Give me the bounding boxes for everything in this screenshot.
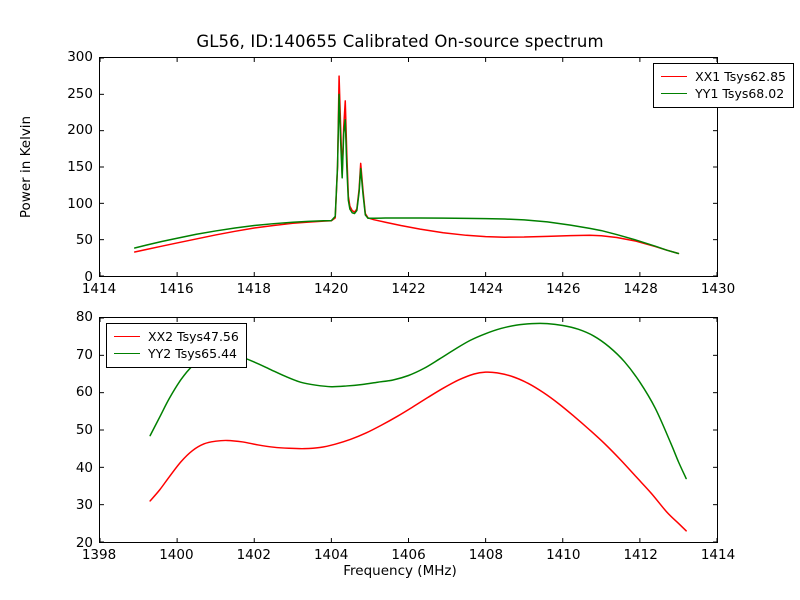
xtick-label: 1402 — [237, 547, 271, 563]
legend-label: YY2 Tsys65.44 — [148, 346, 237, 361]
xtick-label: 1414 — [701, 547, 735, 563]
xtick-label: 1422 — [391, 281, 425, 297]
ytick-label: 50 — [51, 422, 93, 438]
xtick-label: 1424 — [469, 281, 503, 297]
xtick-label: 1406 — [391, 547, 425, 563]
ytick-label: 200 — [51, 122, 93, 138]
bottom-panel-legend[interactable]: XX2 Tsys47.56YY2 Tsys65.44 — [106, 323, 247, 368]
ytick-label: 30 — [51, 497, 93, 513]
top-panel-legend[interactable]: XX1 Tsys62.85YY1 Tsys68.02 — [653, 63, 794, 108]
bottom-legend-entry[interactable]: XX2 Tsys47.56 — [114, 328, 239, 345]
top-panel-plot-area — [100, 58, 717, 276]
ytick-label: 80 — [51, 309, 93, 325]
top-panel-ylabel: Power in Kelvin — [18, 116, 34, 218]
legend-label: YY1 Tsys68.02 — [695, 86, 784, 101]
legend-line-swatch — [114, 336, 140, 337]
ytick-label: 150 — [51, 159, 93, 175]
bottom-legend-entry[interactable]: YY2 Tsys65.44 — [114, 345, 239, 362]
xtick-label: 1426 — [546, 281, 580, 297]
legend-line-swatch — [114, 353, 140, 354]
xtick-label: 1420 — [314, 281, 348, 297]
xtick-label: 1408 — [469, 547, 503, 563]
legend-label: XX2 Tsys47.56 — [148, 329, 239, 344]
xtick-label: 1428 — [623, 281, 657, 297]
xtick-label: 1400 — [159, 547, 193, 563]
top-legend-entry[interactable]: XX1 Tsys62.85 — [661, 68, 786, 85]
ytick-label: 20 — [51, 535, 93, 551]
xtick-label: 1418 — [237, 281, 271, 297]
xtick-label: 1416 — [159, 281, 193, 297]
legend-line-swatch — [661, 76, 687, 77]
top-legend-entry[interactable]: YY1 Tsys68.02 — [661, 85, 786, 102]
xtick-label: 1430 — [701, 281, 735, 297]
ytick-label: 250 — [51, 86, 93, 102]
bottom-panel-xlabel: Frequency (MHz) — [0, 563, 800, 579]
legend-label: XX1 Tsys62.85 — [695, 69, 786, 84]
ytick-label: 300 — [51, 49, 93, 65]
ytick-label: 40 — [51, 460, 93, 476]
figure-canvas: GL56, ID:140655 Calibrated On-source spe… — [0, 0, 800, 600]
ytick-label: 50 — [51, 232, 93, 248]
figure-title: GL56, ID:140655 Calibrated On-source spe… — [0, 32, 800, 51]
top-panel-axes — [99, 57, 718, 277]
ytick-label: 70 — [51, 347, 93, 363]
xtick-label: 1404 — [314, 547, 348, 563]
xtick-label: 1412 — [623, 547, 657, 563]
legend-line-swatch — [661, 93, 687, 94]
xtick-label: 1410 — [546, 547, 580, 563]
ytick-label: 0 — [51, 269, 93, 285]
ytick-label: 60 — [51, 384, 93, 400]
ytick-label: 100 — [51, 196, 93, 212]
